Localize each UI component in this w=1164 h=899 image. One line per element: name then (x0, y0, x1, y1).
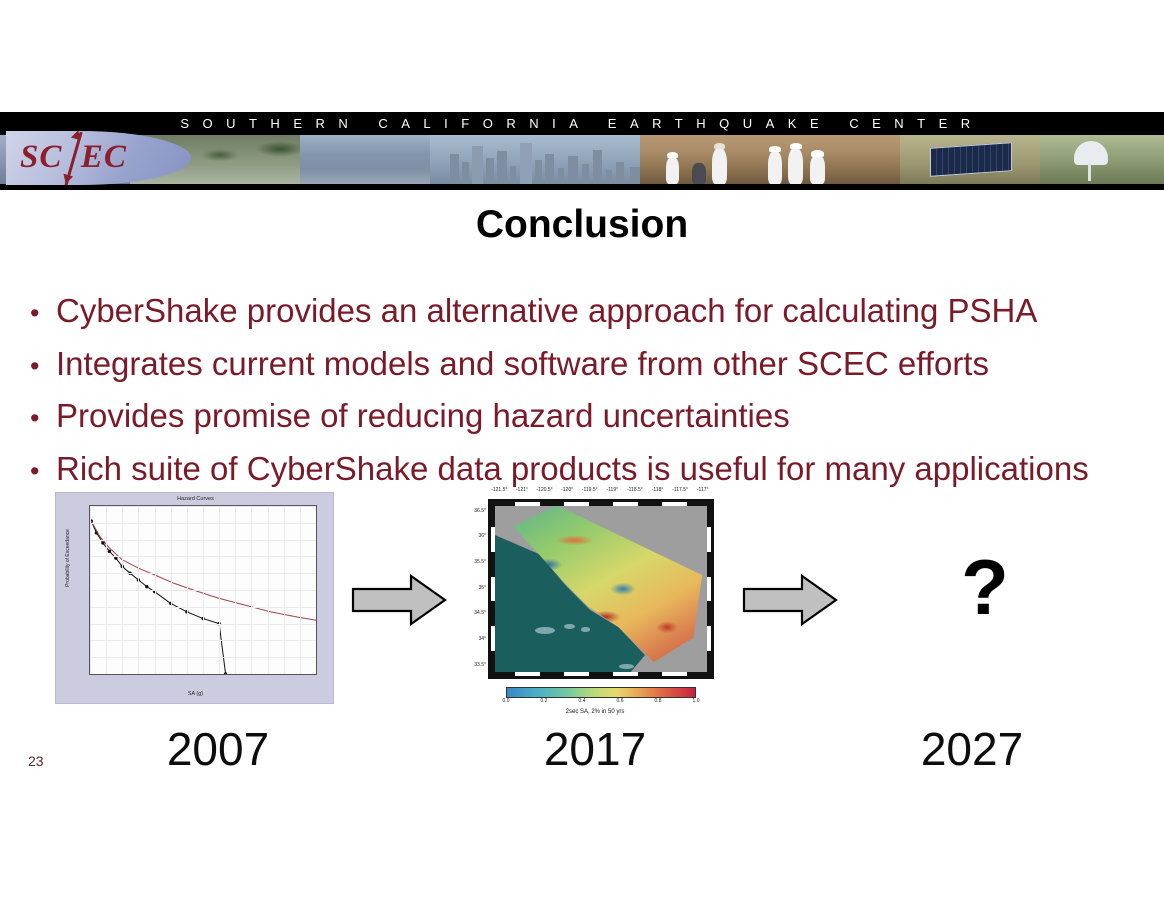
right-arrow-icon-1 (351, 573, 447, 627)
frame-dash (491, 601, 495, 626)
lat-tick-label: 35.5° (474, 559, 486, 565)
frame-dash (564, 502, 588, 506)
list-item: • Integrates current models and software… (30, 339, 1135, 392)
lat-tick-label: 36.5° (474, 508, 486, 514)
gridline-h (90, 540, 316, 541)
frame-dash (540, 502, 564, 506)
island (564, 624, 575, 629)
year-label-2017: 2017 (495, 722, 695, 776)
lat-tick-label: 36° (478, 533, 486, 539)
hazard-map-colorbar (506, 687, 696, 698)
frame-dash (491, 626, 495, 651)
hazard-map-colorbar-label: 2sec SA, 2% in 50 yrs (470, 709, 720, 715)
lon-tick-label: -118° (652, 487, 664, 493)
frame-dash (589, 672, 613, 676)
frame-dash (589, 502, 613, 506)
frame-dash (515, 672, 539, 676)
gridline-h (90, 523, 316, 524)
gridline-h (90, 556, 316, 557)
frame-dash (540, 672, 564, 676)
gridline-h (90, 657, 316, 658)
hazard-curve-figure: Hazard Curves Probability of Exceedance … (55, 492, 334, 704)
colorbar-tick-label: 0.0 (503, 698, 510, 704)
frame-dash (564, 672, 588, 676)
hazard-curve-ylabel: Probability of Exceedance (65, 498, 71, 618)
solar-panel-photo (900, 135, 1060, 184)
gridline-h (90, 624, 316, 625)
field-geologists-photo (640, 135, 910, 184)
gridline-v (316, 506, 317, 674)
lon-tick-label: -119.5° (582, 487, 598, 493)
frame-dash (707, 502, 711, 527)
frame-dash (491, 527, 495, 552)
colorbar-tick-label: 0.4 (579, 698, 586, 704)
page-title: Conclusion (0, 203, 1164, 247)
island (581, 627, 590, 631)
gridline-h (90, 590, 316, 591)
gridline-h (90, 674, 316, 675)
frame-dash (707, 601, 711, 626)
banner-title-strip: SOUTHERN CALIFORNIA EARTHQUAKE CENTER (0, 112, 1164, 135)
frame-dash (491, 651, 495, 676)
lon-tick-label: -121.5° (491, 487, 507, 493)
hazard-map-figure: -121.5°-121°-120.5°-120°-119.5°-119°-118… (470, 487, 720, 725)
bullet-dot-icon: • (30, 342, 56, 392)
lat-tick-label: 34.5° (474, 610, 486, 616)
gps-mast-icon (1088, 163, 1091, 181)
bullet-dot-icon: • (30, 447, 56, 497)
lon-tick-label: -117.5° (672, 487, 688, 493)
year-label-2007: 2007 (118, 722, 318, 776)
frame-dash (707, 552, 711, 577)
gridline-h (90, 573, 316, 574)
frame-dash (662, 502, 686, 506)
data-point (108, 550, 111, 553)
lon-tick-label: -119° (606, 487, 618, 493)
lon-tick-label: -120.5° (536, 487, 552, 493)
gps-dome-icon (1074, 141, 1108, 165)
series-cybershake (91, 521, 225, 674)
lat-tick-label: 35° (478, 585, 486, 591)
frame-dash (515, 502, 539, 506)
colorbar-tick-label: 0.8 (655, 698, 662, 704)
bullet-dot-icon: • (30, 394, 56, 444)
gridline-h (90, 607, 316, 608)
future-question-mark: ? (930, 548, 1040, 626)
colorbar-tick-label: 1.0 (693, 698, 700, 704)
hazard-curve-xlabel: SA (g) (56, 691, 335, 697)
lon-tick-label: -117° (697, 487, 709, 493)
frame-dash (491, 577, 495, 602)
scec-arrow-down-icon (61, 174, 73, 185)
hazard-map-plot-area (488, 499, 714, 679)
frame-dash (662, 672, 686, 676)
colorbar-tick-label: 0.6 (617, 698, 624, 704)
gridline-h (90, 506, 316, 507)
bullet-text: Provides promise of reducing hazard unce… (56, 391, 790, 441)
lon-tick-label: -121° (516, 487, 528, 493)
colorbar-tick-label: 0.2 (541, 698, 548, 704)
gridline-h (90, 640, 316, 641)
frame-dash (491, 502, 495, 527)
data-point (145, 585, 148, 588)
lat-tick-label: 34° (478, 636, 486, 642)
lat-tick-label: 33.5° (474, 662, 486, 668)
frame-dash (613, 672, 637, 676)
list-item: • CyberShake provides an alternative app… (30, 286, 1135, 339)
frame-dash (707, 626, 711, 651)
right-arrow-icon-2 (742, 573, 838, 627)
frame-dash (707, 577, 711, 602)
gps-antenna-photo (1040, 135, 1164, 184)
bullet-text: Rich suite of CyberShake data products i… (56, 444, 1089, 494)
hazard-curve-plot-area: 10010-110-210-310-410-510-610-710-810-91… (89, 505, 317, 675)
frame-dash (707, 527, 711, 552)
frame-dash (613, 502, 637, 506)
bullet-dot-icon: • (30, 289, 56, 339)
arrow-shape (742, 573, 838, 627)
banner-bottom-rule (0, 184, 1164, 190)
bullet-text: CyberShake provides an alternative appro… (56, 286, 1037, 336)
lon-tick-label: -120° (561, 487, 573, 493)
frame-dash (638, 672, 662, 676)
island (619, 664, 634, 669)
frame-dash (491, 552, 495, 577)
year-label-2027: 2027 (872, 722, 1072, 776)
arrow-shape (351, 573, 447, 627)
bullet-text: Integrates current models and software f… (56, 339, 989, 389)
slide-number: 23 (28, 753, 44, 769)
solar-panel-icon (930, 142, 1012, 177)
list-item: • Provides promise of reducing hazard un… (30, 391, 1135, 444)
bullet-list: • CyberShake provides an alternative app… (30, 286, 1135, 496)
hazard-curve-title: Hazard Curves (56, 496, 335, 502)
lon-tick-label: -118.5° (627, 487, 643, 493)
frame-dash (638, 502, 662, 506)
frame-dash (707, 651, 711, 676)
